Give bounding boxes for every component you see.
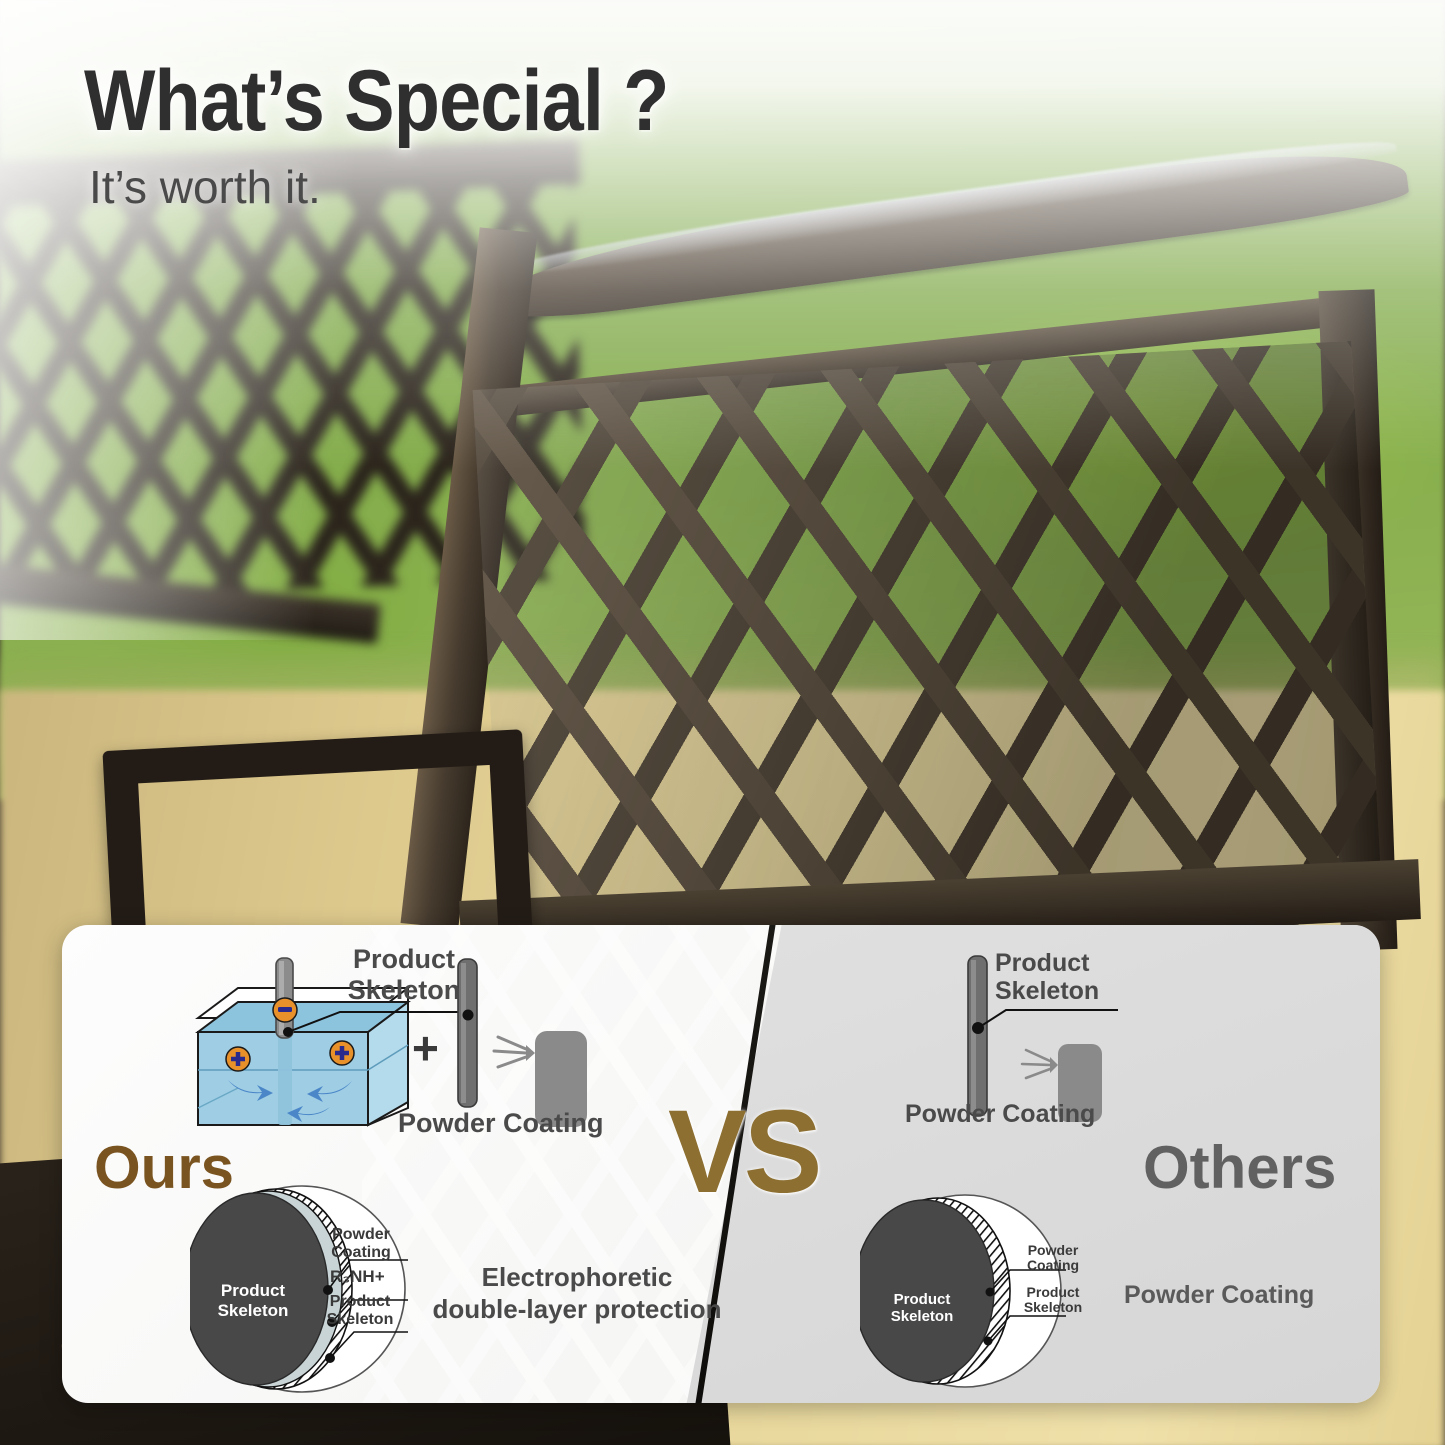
caption-others: Powder Coating xyxy=(1124,1280,1314,1310)
callout-powder-coating-others: Powder Coating xyxy=(1020,1243,1086,1274)
page-subtitle: It’s worth it. xyxy=(89,160,748,214)
page-title: What’s Special ? xyxy=(84,56,668,146)
core-label-ours: Product Skeleton xyxy=(203,1281,303,1320)
headline-block: What’s Special ? It’s worth it. xyxy=(84,56,748,214)
callout-product-skeleton-ours: Product Skeleton xyxy=(316,1293,404,1328)
brand-label-ours: Ours xyxy=(94,1138,234,1198)
callout-r3nh-ours: R₃NH+ xyxy=(330,1268,385,1287)
brand-label-others: Others xyxy=(1143,1138,1336,1198)
vs-label: VS xyxy=(668,1093,819,1211)
core-label-others: Product Skeleton xyxy=(874,1291,970,1326)
powder-coating-label-left: Powder Coating xyxy=(398,1108,604,1139)
caption-ours: Electrophoretic double-layer protection xyxy=(432,1262,722,1325)
callout-powder-coating-ours: Powder Coating xyxy=(323,1226,399,1261)
powder-coating-label-right: Powder Coating xyxy=(905,1100,1095,1129)
product-skeleton-label-right: Product Skeleton xyxy=(995,950,1145,1005)
product-skeleton-label-left: Product Skeleton xyxy=(334,944,474,1007)
plus-symbol-left: + xyxy=(412,1025,439,1071)
callout-product-skeleton-others: Product Skeleton xyxy=(1014,1285,1092,1316)
